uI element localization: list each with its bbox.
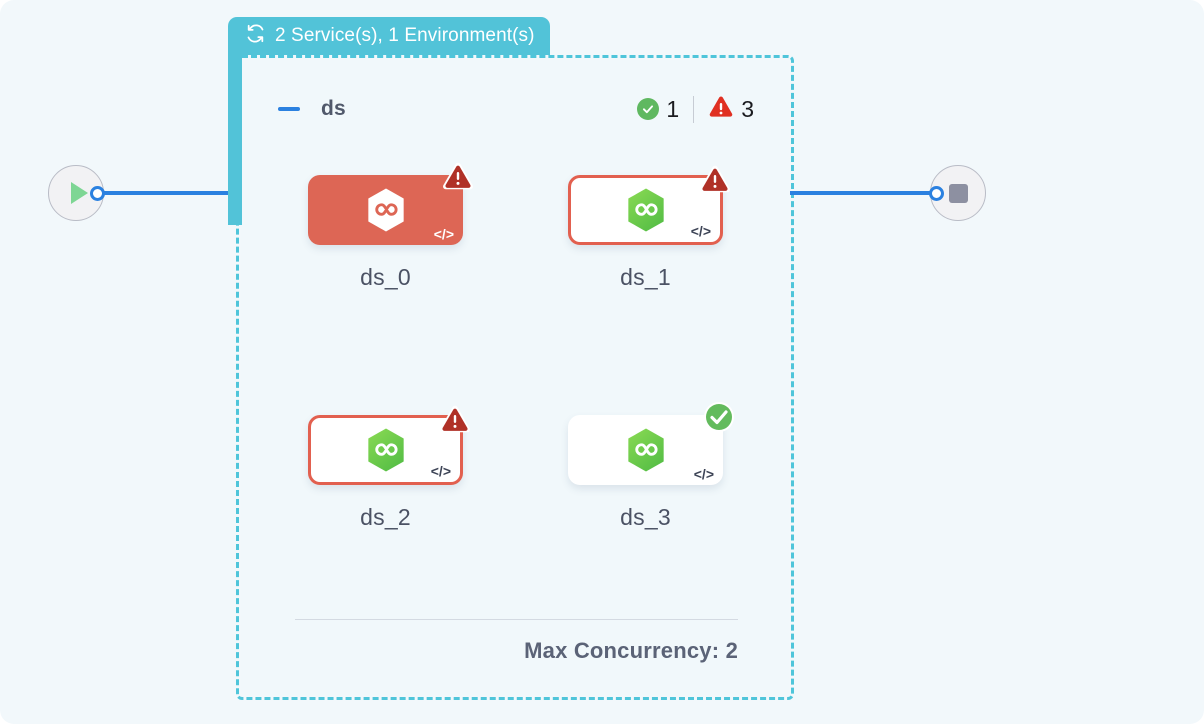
task-node[interactable]: </> ds_1 xyxy=(568,175,723,291)
group-status-counts: 1 3 xyxy=(637,95,754,124)
workflow-canvas: 2 Service(s), 1 Environment(s) ds 1 xyxy=(0,0,1204,724)
task-label: ds_3 xyxy=(568,504,723,531)
service-hexagon-icon xyxy=(365,427,407,473)
check-circle-icon xyxy=(703,401,735,438)
code-tag-icon: </> xyxy=(431,464,451,478)
service-hexagon-icon xyxy=(625,427,667,473)
stop-square-icon xyxy=(949,184,968,203)
task-card[interactable]: </> xyxy=(568,175,723,245)
task-node[interactable]: </> ds_0 xyxy=(308,175,463,291)
group-tab-label: 2 Service(s), 1 Environment(s) xyxy=(275,25,535,47)
warning-triangle-icon xyxy=(708,95,734,124)
service-hexagon-icon xyxy=(365,187,407,233)
task-label: ds_2 xyxy=(308,504,463,531)
group-accent-bar xyxy=(228,50,242,225)
task-card[interactable]: </> xyxy=(568,415,723,485)
group-header: ds 1 3 xyxy=(278,92,754,126)
status-warn-count: 3 xyxy=(741,96,754,123)
edge-group-to-end xyxy=(790,191,934,195)
task-node[interactable]: </> ds_3 xyxy=(568,415,723,531)
end-node-input-port[interactable] xyxy=(929,186,944,201)
collapse-minus-icon[interactable] xyxy=(278,107,300,111)
code-tag-icon: </> xyxy=(691,224,711,238)
status-ok-group: 1 xyxy=(637,96,679,123)
task-node[interactable]: </> ds_2 xyxy=(308,415,463,531)
status-warn-group: 3 xyxy=(708,95,754,124)
warning-triangle-icon xyxy=(441,161,475,197)
status-ok-count: 1 xyxy=(666,96,679,123)
group-tab[interactable]: 2 Service(s), 1 Environment(s) xyxy=(228,17,550,55)
task-label: ds_1 xyxy=(568,264,723,291)
warning-triangle-icon xyxy=(698,164,732,200)
start-node-output-port[interactable] xyxy=(90,186,105,201)
play-icon xyxy=(71,182,88,204)
task-label: ds_0 xyxy=(308,264,463,291)
warning-triangle-icon xyxy=(438,404,472,440)
max-concurrency-label: Max Concurrency: 2 xyxy=(295,638,738,664)
service-hexagon-icon xyxy=(625,187,667,233)
check-circle-icon xyxy=(637,98,659,120)
task-card[interactable]: </> xyxy=(308,175,463,245)
status-divider xyxy=(693,96,694,123)
code-tag-icon: </> xyxy=(434,227,454,241)
loop-refresh-icon xyxy=(245,23,266,49)
group-dashed-border xyxy=(236,55,794,700)
code-tag-icon: </> xyxy=(694,467,714,481)
edge-start-to-group xyxy=(100,191,242,195)
group-name-label: ds xyxy=(321,97,346,121)
footer-divider xyxy=(295,619,738,620)
task-card[interactable]: </> xyxy=(308,415,463,485)
